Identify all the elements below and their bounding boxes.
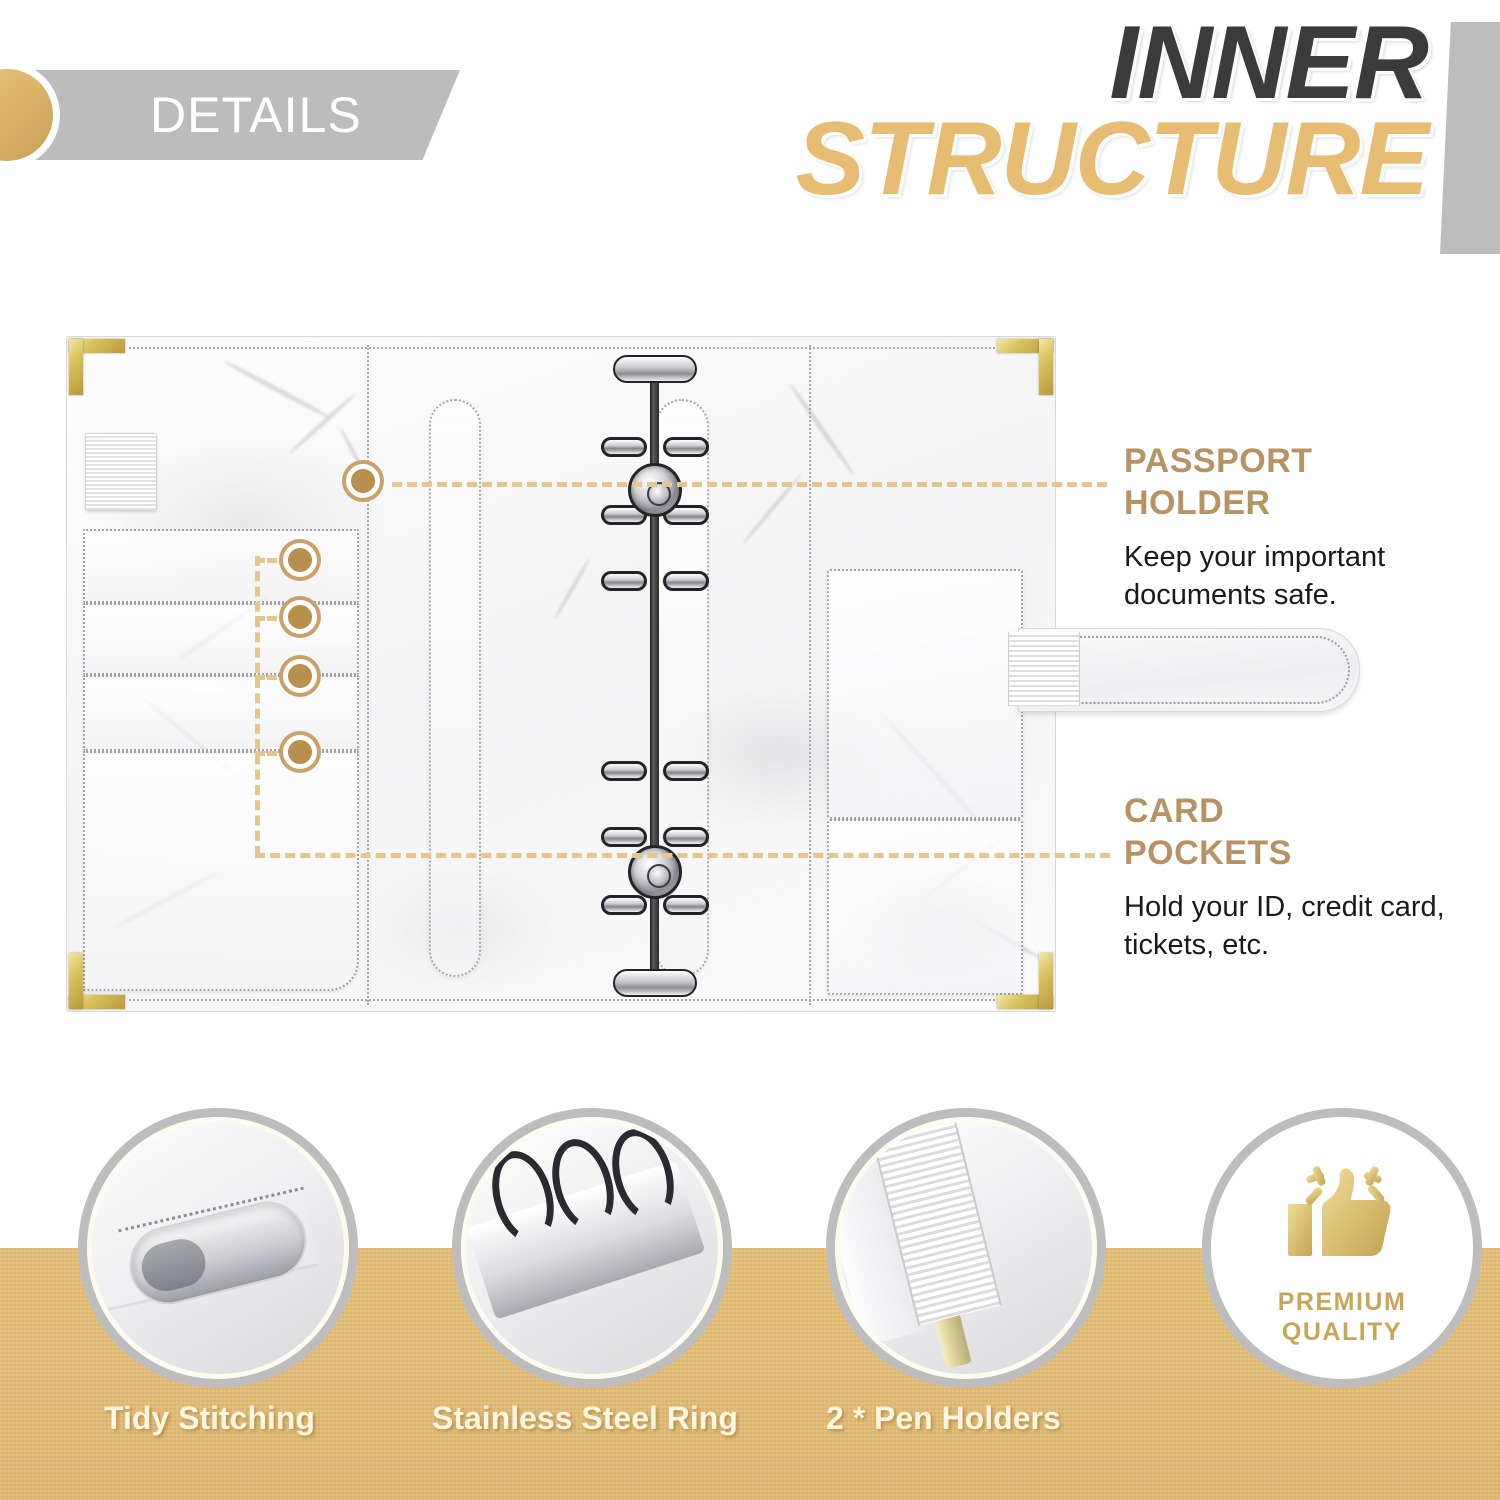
marble-vein bbox=[223, 359, 331, 420]
planner-open-view bbox=[66, 336, 1056, 1012]
binder-ring bbox=[601, 895, 647, 915]
gold-corner-bottom-right bbox=[995, 951, 1053, 1009]
marble-vein bbox=[788, 383, 855, 476]
elastic-pen-loop bbox=[85, 433, 157, 511]
title-line-2: STRUCTURE bbox=[796, 104, 1428, 214]
callout-card-title-line1: CARD bbox=[1124, 790, 1476, 832]
card-pocket-marker-1 bbox=[283, 543, 317, 577]
feature-thumb-image bbox=[835, 1117, 1097, 1379]
binder-clasp-top bbox=[628, 463, 682, 517]
callout-passport-holder: PASSPORT HOLDER Keep your important docu… bbox=[1124, 440, 1476, 614]
card-pocket-marker-3 bbox=[283, 659, 317, 693]
page-title: INNER STRUCTURE bbox=[796, 8, 1428, 214]
fold-stitch-right bbox=[809, 345, 811, 1005]
gold-corner-top-left bbox=[69, 339, 127, 397]
callout-passport-title-line1: PASSPORT bbox=[1124, 440, 1476, 482]
passport-holder-pocket-lower bbox=[827, 819, 1023, 995]
header: DETAILS INNER STRUCTURE bbox=[0, 0, 1500, 300]
callout-passport-title-line2: HOLDER bbox=[1124, 482, 1476, 524]
card-pocket-slot-1 bbox=[83, 529, 359, 603]
feature-thumb-steel-ring bbox=[452, 1108, 732, 1388]
details-label: DETAILS bbox=[150, 72, 362, 158]
card-pocket-slot-3 bbox=[83, 675, 359, 751]
binder-ring bbox=[663, 895, 709, 915]
binder-cap-bottom bbox=[613, 969, 697, 997]
card-pocket-bus-line bbox=[255, 556, 260, 856]
card-pocket-slot-2 bbox=[83, 603, 359, 675]
binder-ring bbox=[663, 437, 709, 457]
badge-line-1: PREMIUM bbox=[1278, 1287, 1407, 1317]
binder-cap-top bbox=[613, 355, 697, 383]
callout-card-title-line2: POCKETS bbox=[1124, 832, 1476, 874]
gold-corner-bottom-left bbox=[69, 951, 127, 1009]
card-pocket-marker-2 bbox=[283, 600, 317, 634]
callout-line-card-pockets bbox=[255, 853, 1110, 858]
feature-caption-steel-ring: Stainless Steel Ring bbox=[432, 1400, 738, 1437]
edge-stitch-bottom bbox=[129, 999, 999, 1001]
callout-passport-body: Keep your important documents safe. bbox=[1124, 538, 1476, 614]
callout-marker-passport bbox=[346, 464, 380, 498]
binder-ring bbox=[601, 571, 647, 591]
fold-stitch-left bbox=[367, 345, 369, 1005]
callout-card-pockets: CARD POCKETS Hold your ID, credit card, … bbox=[1124, 790, 1476, 964]
premium-quality-badge: PREMIUM QUALITY bbox=[1202, 1108, 1482, 1388]
binder-ring bbox=[601, 827, 647, 847]
card-pocket-marker-4 bbox=[283, 735, 317, 769]
thumbs-up-icon bbox=[1282, 1164, 1402, 1277]
binder-ring bbox=[663, 827, 709, 847]
product-photo bbox=[66, 336, 1056, 1012]
binder-ring bbox=[663, 571, 709, 591]
passport-holder-pocket bbox=[827, 569, 1023, 819]
binder-ring bbox=[663, 761, 709, 781]
binder-ring bbox=[601, 761, 647, 781]
strap-elastic-band bbox=[1008, 632, 1080, 706]
feature-thumb-image bbox=[87, 1117, 349, 1379]
gold-corner-top-right bbox=[995, 339, 1053, 397]
title-accent-bar bbox=[1440, 22, 1500, 254]
callout-line-passport bbox=[392, 482, 1107, 487]
edge-stitch-top bbox=[129, 347, 999, 349]
binder-ring bbox=[601, 437, 647, 457]
feature-caption-tidy-stitching: Tidy Stitching bbox=[104, 1400, 315, 1437]
callout-card-body: Hold your ID, credit card, tickets, etc. bbox=[1124, 888, 1476, 964]
ring-binder-mechanism bbox=[603, 349, 707, 1001]
marble-vein bbox=[553, 558, 591, 621]
feature-thumb-tidy-stitching bbox=[78, 1108, 358, 1388]
feature-thumb-image bbox=[461, 1117, 723, 1379]
feature-caption-pen-holders: 2 * Pen Holders bbox=[826, 1400, 1061, 1437]
feature-thumb-pen-holders bbox=[826, 1108, 1106, 1388]
badge-line-2: QUALITY bbox=[1282, 1317, 1402, 1347]
